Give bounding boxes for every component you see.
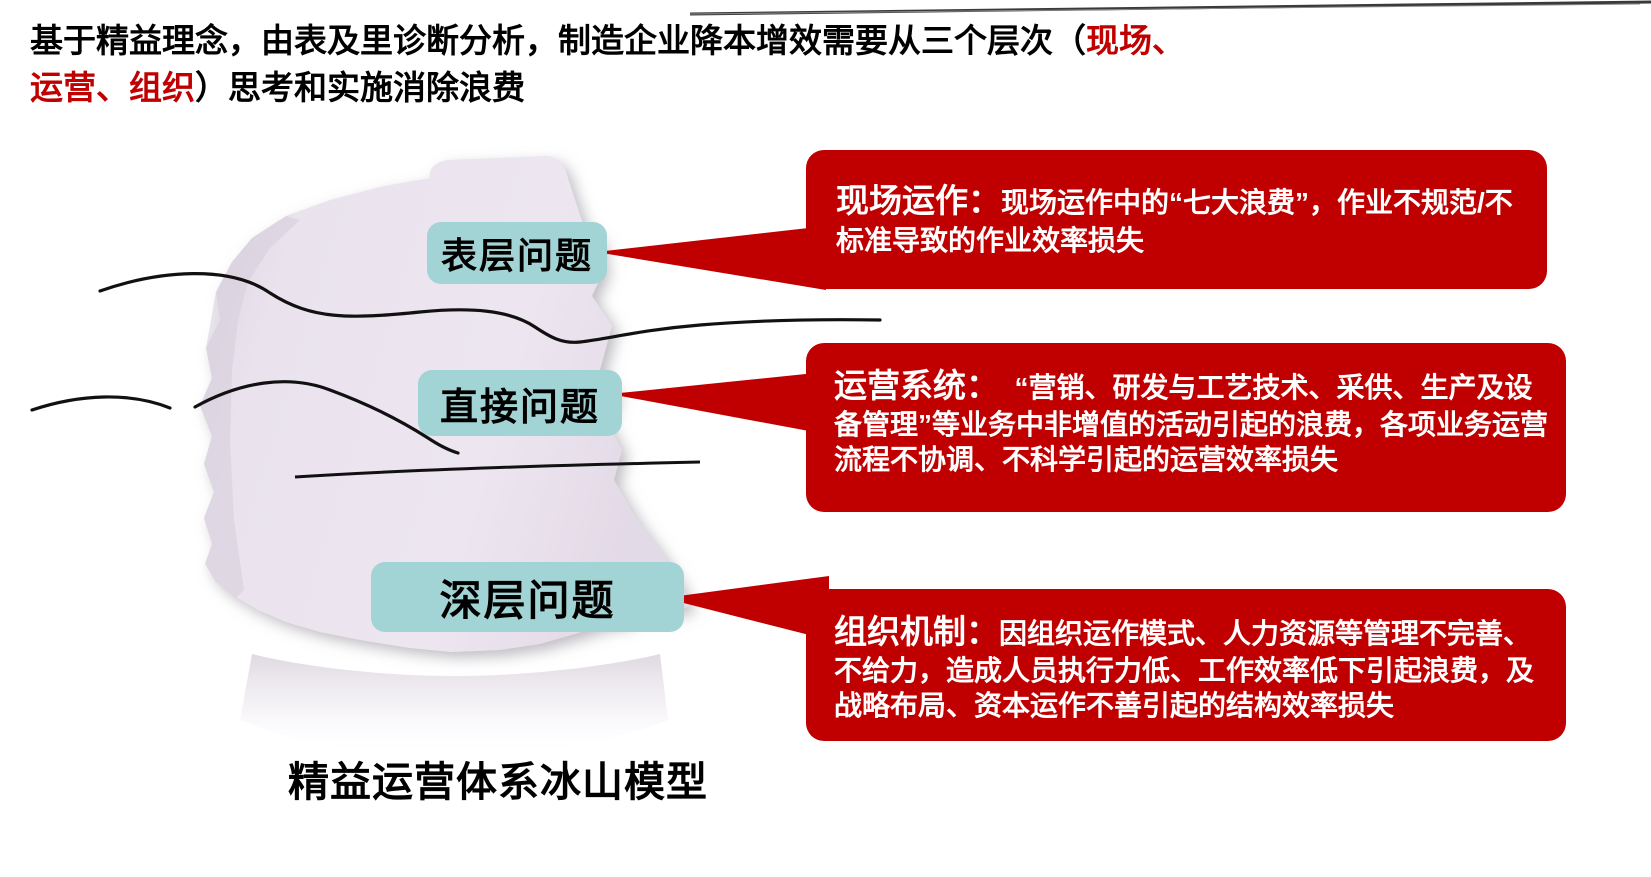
callout-organization-mechanism[interactable]: 组织机制：因组织运作模式、人力资源等管理不完善、不给力，造成人员执行力低、工作效…: [806, 589, 1566, 741]
page-title-part1: 基于精益理念，由表及里诊断分析，制造企业降本增效需要从三个层次（: [30, 22, 1086, 59]
callout-heading: 现场运作：: [836, 182, 1001, 219]
callout-site-operation[interactable]: 现场运作：现场运作中的“七大浪费”，作业不规范/不标准导致的作业效率损失: [806, 150, 1547, 289]
callout-heading: 运营系统：: [834, 367, 999, 404]
iceberg-reflection: [240, 654, 668, 756]
layer-label-text: 深层问题: [439, 567, 615, 628]
page-title-part2: ）思考和实施消除浪费: [195, 69, 525, 106]
callout-text: 运营系统： “营销、研发与工艺技术、采供、生产及设备管理”等业务中非增值的活动引…: [834, 365, 1550, 478]
callout-text: 现场运作：现场运作中的“七大浪费”，作业不规范/不标准导致的作业效率损失: [836, 180, 1527, 259]
layer-label-text: 直接问题: [440, 376, 600, 431]
iceberg-layer-label-deep[interactable]: 深层问题: [371, 562, 684, 632]
callout-text: 组织机制：因组织运作模式、人力资源等管理不完善、不给力，造成人员执行力低、工作效…: [834, 611, 1550, 724]
iceberg-layer-label-direct[interactable]: 直接问题: [418, 370, 622, 436]
iceberg-caption: 精益运营体系冰山模型: [288, 748, 708, 808]
layer-label-text: 表层问题: [441, 227, 593, 279]
callout-operating-system[interactable]: 运营系统： “营销、研发与工艺技术、采供、生产及设备管理”等业务中非增值的活动引…: [806, 343, 1566, 512]
page-title: 基于精益理念，由表及里诊断分析，制造企业降本增效需要从三个层次（现场、 运营、组…: [30, 18, 1430, 112]
slide-canvas: 基于精益理念，由表及里诊断分析，制造企业降本增效需要从三个层次（现场、 运营、组…: [0, 0, 1651, 877]
iceberg-layer-label-surface[interactable]: 表层问题: [427, 222, 607, 284]
callout-heading: 组织机制：: [834, 613, 999, 650]
